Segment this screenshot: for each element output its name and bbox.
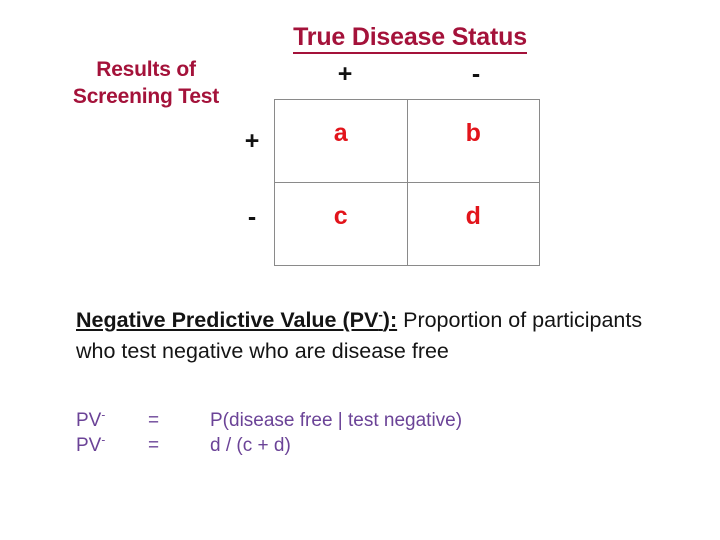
- formula-label-1-superscript: -: [101, 409, 105, 422]
- formula-label-1: PV-: [76, 408, 148, 433]
- cell-true-positive: a: [275, 100, 408, 183]
- row-axis-title-line-1: Results of: [30, 56, 262, 83]
- formula-row-algebraic: PV-=d / (c + d): [76, 433, 636, 458]
- cell-true-negative: d: [407, 183, 540, 266]
- row-header-positive: +: [234, 129, 270, 154]
- table-row: a b: [275, 100, 540, 183]
- formula-operator-2: =: [148, 433, 210, 458]
- column-header-positive: +: [325, 62, 365, 87]
- definition-term: Negative Predictive Value (PV-):: [76, 308, 397, 332]
- formula-operator-1: =: [148, 408, 210, 433]
- cell-false-negative: c: [275, 183, 408, 266]
- cell-value-d: d: [408, 204, 540, 229]
- cell-value-c: c: [275, 204, 407, 229]
- formula-expression-2: d / (c + d): [210, 433, 291, 458]
- cell-value-b: b: [408, 121, 540, 146]
- formula-label-1-text: PV: [76, 410, 101, 431]
- column-axis-title-text: True Disease Status: [293, 23, 527, 54]
- row-axis-title: Results of Screening Test: [30, 56, 262, 111]
- row-axis-title-line-2: Screening Test: [30, 83, 262, 110]
- formula-block: PV-=P(disease free | test negative) PV-=…: [76, 408, 636, 458]
- cell-value-a: a: [275, 121, 407, 146]
- formula-row-conditional: PV-=P(disease free | test negative): [76, 408, 636, 433]
- row-header-negative: -: [234, 205, 270, 230]
- cell-false-positive: b: [407, 100, 540, 183]
- formula-label-2: PV-: [76, 433, 148, 458]
- table-row: c d: [275, 183, 540, 266]
- slide-canvas: True Disease Status Results of Screening…: [0, 0, 720, 540]
- formula-expression-1: P(disease free | test negative): [210, 408, 462, 433]
- column-axis-title: True Disease Status: [270, 24, 550, 50]
- definition-paragraph: Negative Predictive Value (PV-): Proport…: [76, 305, 670, 366]
- definition-term-suffix: ):: [383, 308, 397, 332]
- formula-label-2-superscript: -: [101, 434, 105, 447]
- contingency-table: a b c d: [274, 99, 540, 266]
- formula-label-2-text: PV: [76, 435, 101, 456]
- definition-term-text: Negative Predictive Value (PV: [76, 308, 378, 332]
- column-header-negative: -: [456, 62, 496, 87]
